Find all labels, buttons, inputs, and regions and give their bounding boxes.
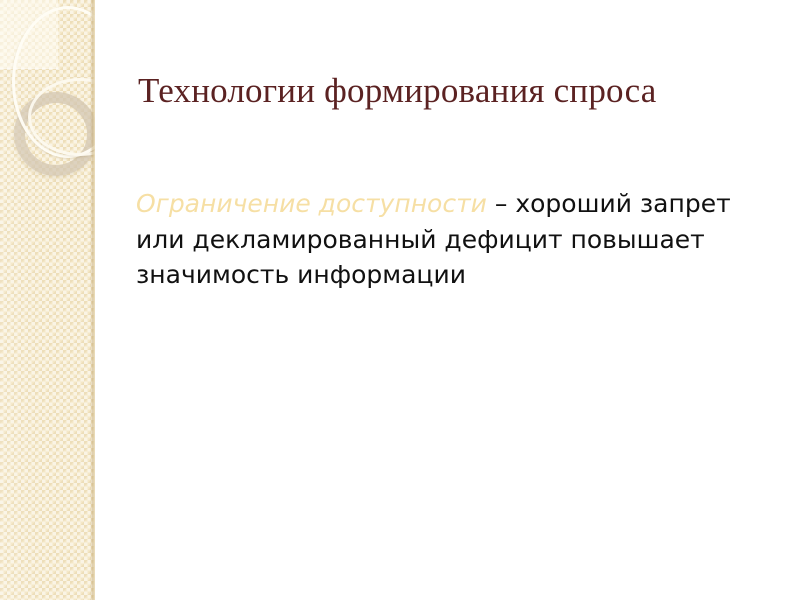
slide-title: Технологии формирования спроса bbox=[138, 71, 786, 111]
decorative-sidebar bbox=[0, 0, 95, 600]
slide-body-text: Ограничение доступности – хороший запрет… bbox=[136, 186, 756, 293]
sidebar-edge-stripe bbox=[90, 0, 95, 600]
body-separator: – bbox=[487, 189, 515, 218]
body-emphasis-text: Ограничение доступности bbox=[136, 189, 487, 218]
presentation-slide: Технологии формирования спроса Ограничен… bbox=[0, 0, 800, 600]
